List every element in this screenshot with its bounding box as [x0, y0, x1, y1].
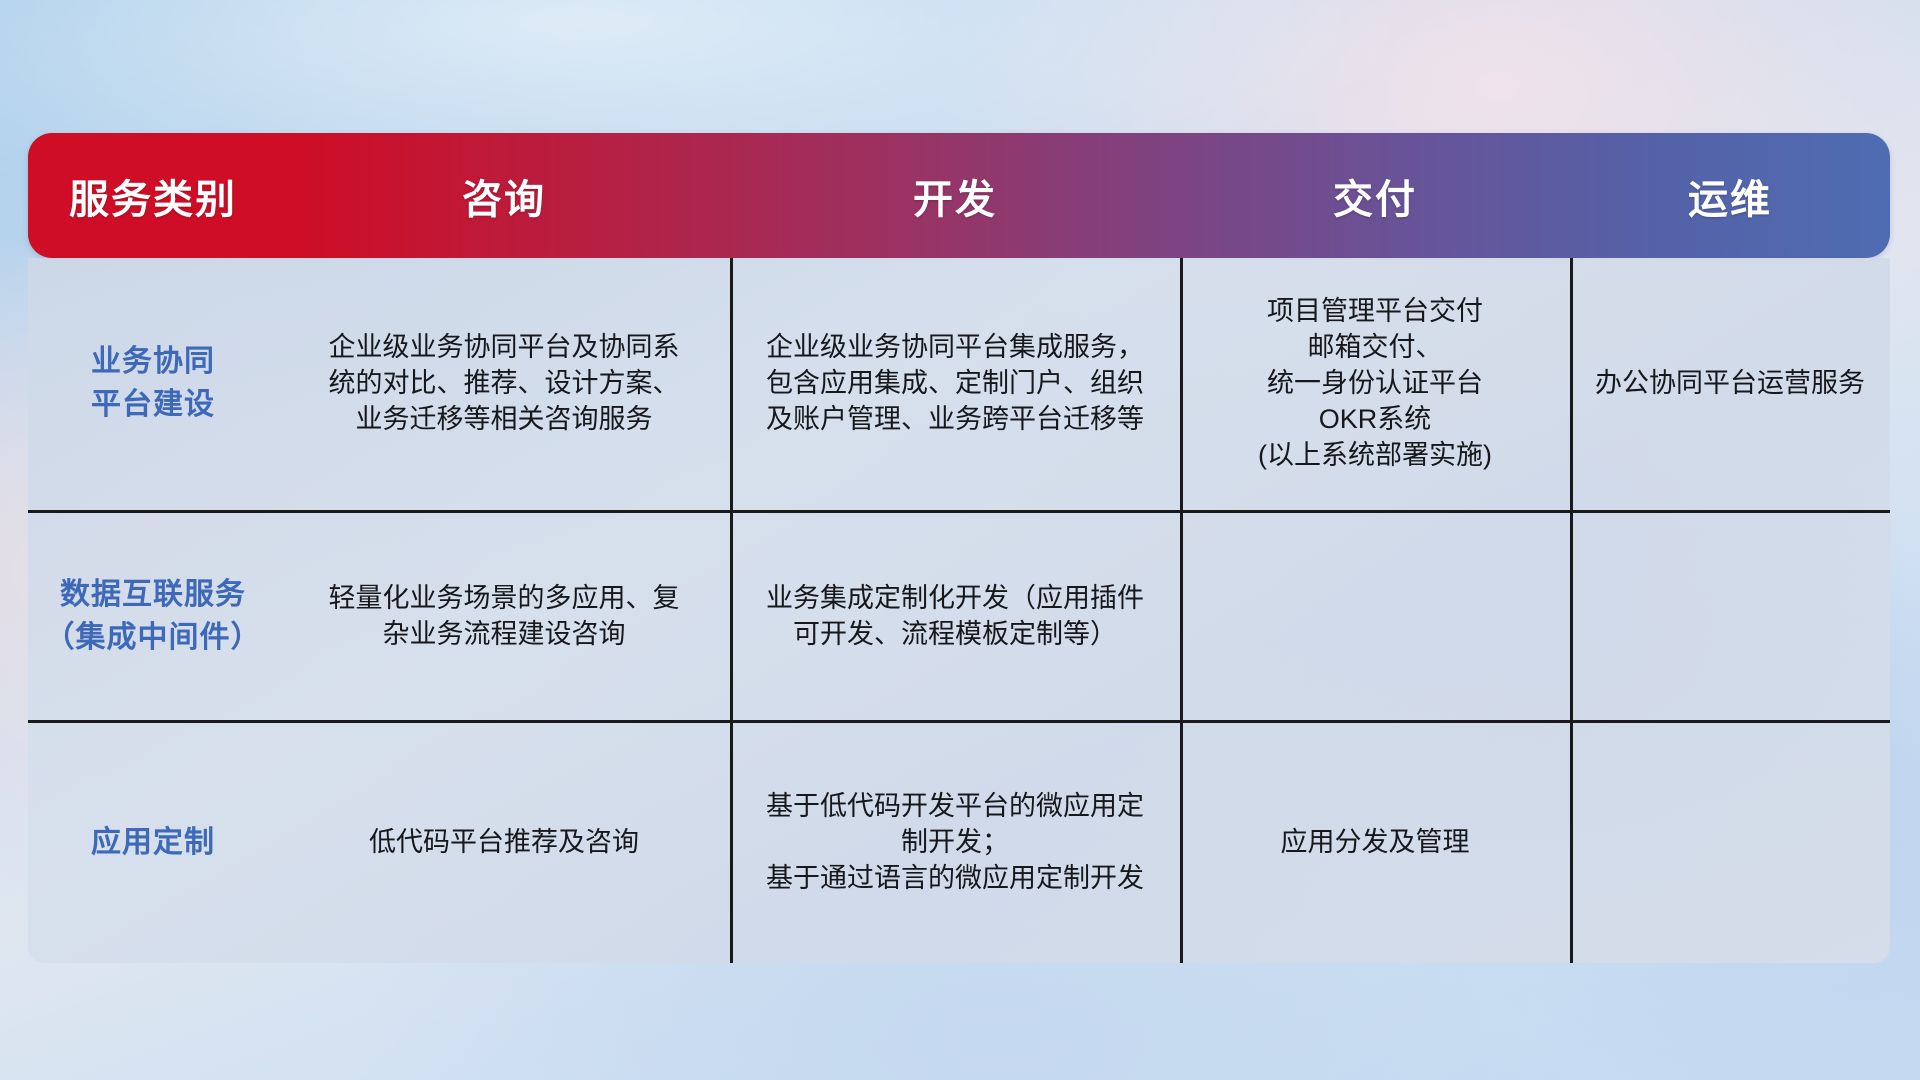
- cell-development: 基于低代码开发平台的微应用定 制开发； 基于通过语言的微应用定制开发: [730, 785, 1180, 901]
- table-row: 业务协同 平台建设 企业级业务协同平台及协同系 统的对比、推荐、设计方案、 业务…: [28, 258, 1890, 510]
- cell-consulting: 企业级业务协同平台及协同系 统的对比、推荐、设计方案、 业务迁移等相关咨询服务: [278, 326, 730, 442]
- column-header-delivery: 交付: [1180, 167, 1570, 225]
- service-matrix-table: 服务类别 咨询 开发 交付 运维 业务协同 平台建设 企业级业务协同平台及协同系…: [28, 133, 1890, 963]
- column-header-operations: 运维: [1570, 167, 1890, 225]
- table-row: 应用定制 低代码平台推荐及咨询 基于低代码开发平台的微应用定 制开发； 基于通过…: [28, 720, 1890, 963]
- cell-development: 企业级业务协同平台集成服务， 包含应用集成、定制门户、组织 及账户管理、业务跨平…: [730, 326, 1180, 442]
- cell-operations: [1570, 839, 1890, 847]
- table-row: 数据互联服务 （集成中间件） 轻量化业务场景的多应用、复 杂业务流程建设咨询 业…: [28, 510, 1890, 720]
- cell-operations: 办公协同平台运营服务: [1570, 362, 1890, 406]
- column-header-development: 开发: [730, 167, 1180, 225]
- cell-delivery: 应用分发及管理: [1180, 821, 1570, 865]
- row-label-business-collaboration: 业务协同 平台建设: [28, 337, 278, 430]
- cell-consulting: 轻量化业务场景的多应用、复 杂业务流程建设咨询: [278, 577, 730, 657]
- cell-operations: [1570, 613, 1890, 621]
- column-header-consulting: 咨询: [278, 167, 730, 225]
- row-label-data-interconnect: 数据互联服务 （集成中间件）: [28, 570, 278, 663]
- cell-development: 业务集成定制化开发（应用插件 可开发、流程模板定制等）: [730, 577, 1180, 657]
- cell-delivery: [1180, 613, 1570, 621]
- table-body: 业务协同 平台建设 企业级业务协同平台及协同系 统的对比、推荐、设计方案、 业务…: [28, 258, 1890, 963]
- cell-delivery: 项目管理平台交付 邮箱交付、 统一身份认证平台 OKR系统 (以上系统部署实施): [1180, 290, 1570, 478]
- table-header-row: 服务类别 咨询 开发 交付 运维: [28, 133, 1890, 258]
- cell-consulting: 低代码平台推荐及咨询: [278, 821, 730, 865]
- row-label-app-customization: 应用定制: [28, 818, 278, 869]
- column-header-category: 服务类别: [28, 167, 278, 225]
